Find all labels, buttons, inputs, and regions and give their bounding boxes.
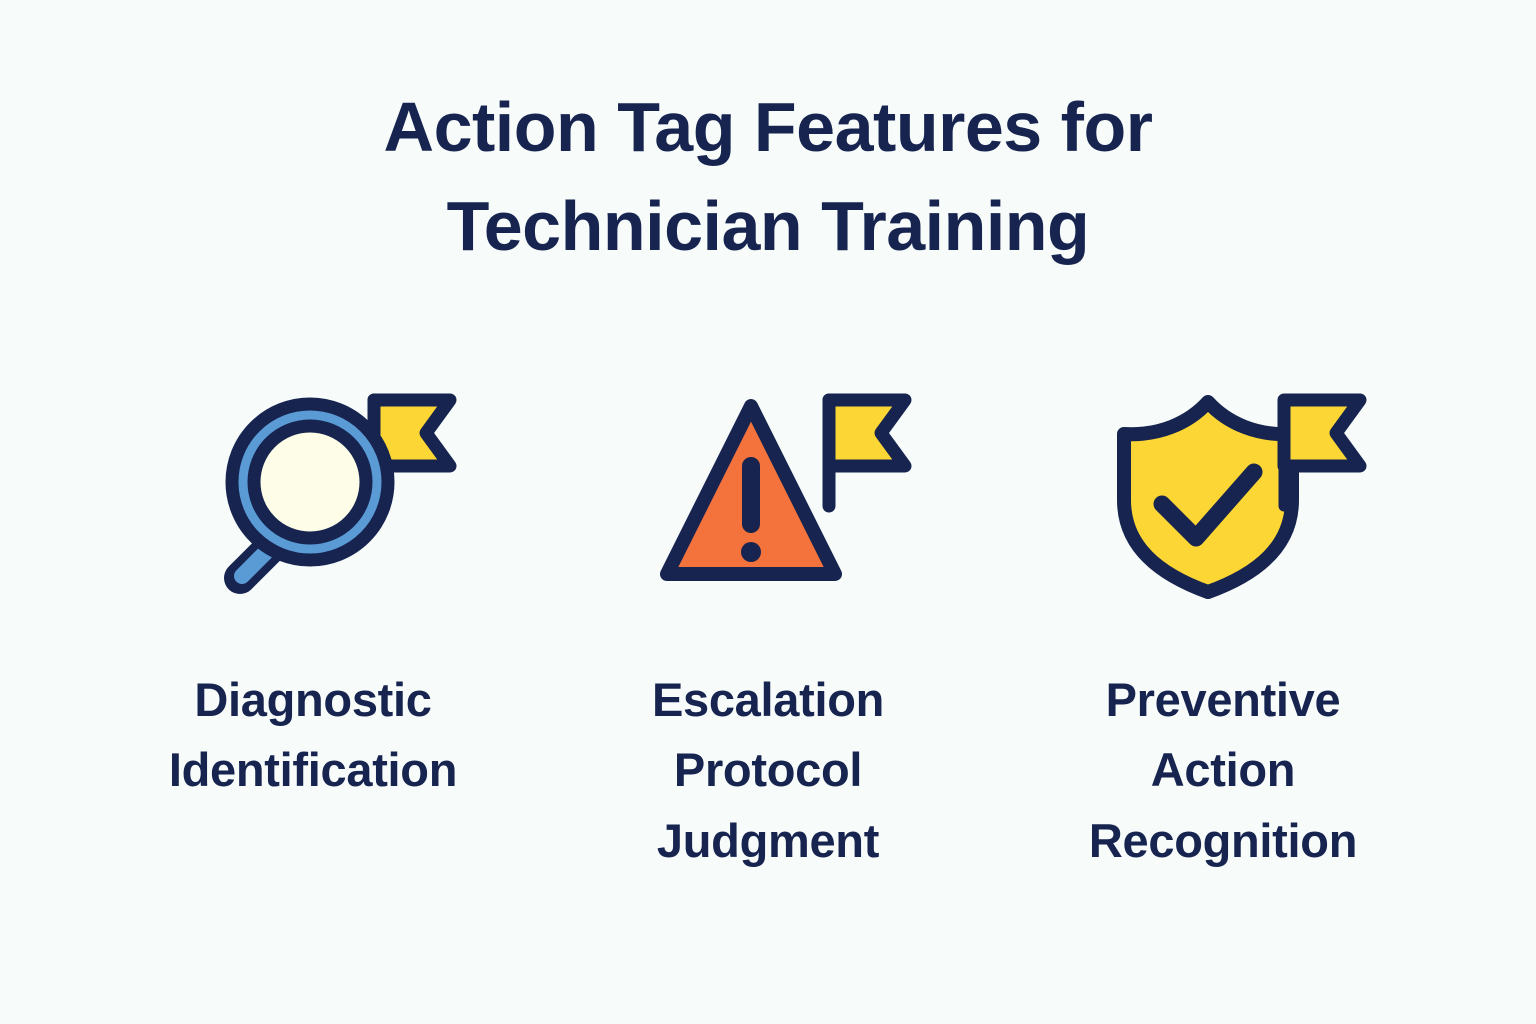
feature-label-preventive-action-recognition: Preventive Action Recognition [1089, 665, 1357, 877]
icon-container-escalation [618, 373, 918, 623]
icon-container-preventive [1073, 373, 1373, 623]
feature-card-row: Diagnostic Identification Escalatio [103, 373, 1433, 877]
feature-card-preventive-action-recognition: Preventive Action Recognition [1013, 373, 1433, 877]
feature-card-diagnostic-identification: Diagnostic Identification [103, 373, 523, 806]
feature-label-diagnostic-identification: Diagnostic Identification [169, 665, 457, 806]
magnifier-lens [254, 426, 366, 538]
shield-check-with-flag-icon [1088, 378, 1358, 618]
feature-label-escalation-protocol-judgment: Escalation Protocol Judgment [652, 665, 884, 877]
shield-body [1124, 402, 1292, 592]
flag-banner [1284, 400, 1360, 466]
icon-container-diagnostic [163, 373, 463, 623]
flag-banner [829, 400, 905, 466]
warning-triangle-with-flag-icon [633, 378, 903, 618]
feature-card-escalation-protocol-judgment: Escalation Protocol Judgment [558, 373, 978, 877]
magnifying-glass-with-flag-icon [178, 378, 448, 618]
page-title: Action Tag Features for Technician Train… [248, 78, 1288, 277]
title-block: Action Tag Features for Technician Train… [248, 78, 1288, 277]
infographic-poster: Action Tag Features for Technician Train… [0, 0, 1536, 1024]
exclamation-dot [741, 542, 761, 562]
